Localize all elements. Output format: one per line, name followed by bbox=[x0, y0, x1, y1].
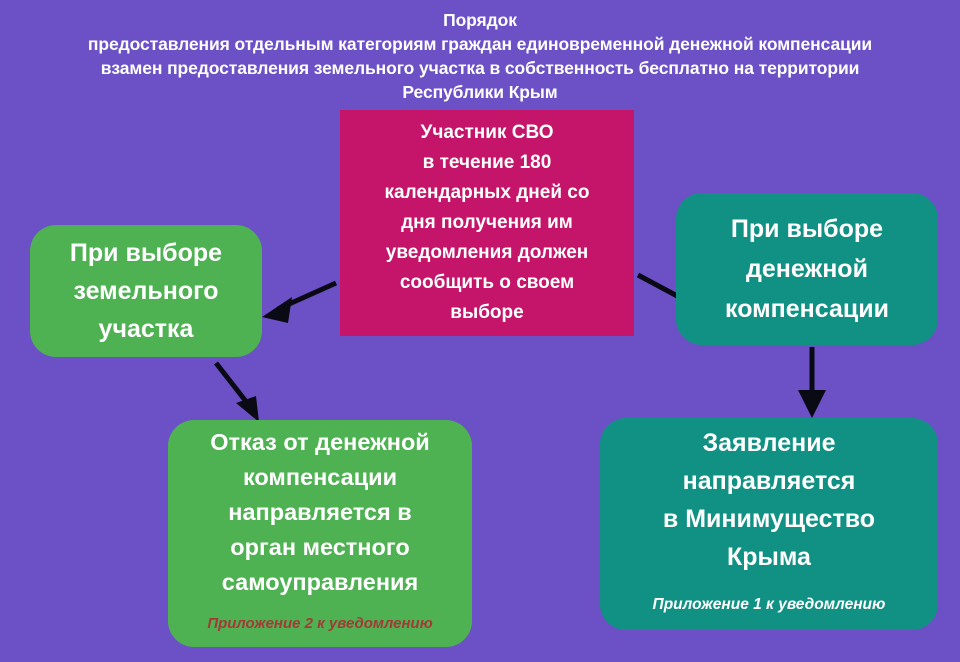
node-left-result-line-5: самоуправления bbox=[222, 565, 418, 600]
arrow-right-choice-to-right-result-icon bbox=[798, 347, 826, 418]
node-central-line-6: сообщить о своем bbox=[400, 268, 574, 298]
node-right-choice-line-2: денежной bbox=[746, 249, 868, 289]
arrow-central-to-left-choice-icon bbox=[262, 283, 336, 323]
node-right-choice-line-3: компенсации bbox=[725, 289, 889, 329]
node-refusal-to-local-government[interactable]: Отказ от денежной компенсации направляет… bbox=[168, 420, 472, 647]
node-left-result-line-3: направляется в bbox=[228, 495, 411, 530]
node-right-choice-line-1: При выборе bbox=[731, 209, 883, 249]
node-left-choice-line-1: При выборе bbox=[70, 234, 222, 272]
title-line-1: Порядок bbox=[0, 8, 960, 32]
title-line-4: Республики Крым bbox=[0, 80, 960, 104]
node-central-line-2: в течение 180 bbox=[423, 148, 552, 178]
node-right-result-annex-label: Приложение 1 к уведомлению bbox=[653, 586, 886, 624]
node-left-result-annex-label: Приложение 2 к уведомлению bbox=[207, 606, 432, 641]
node-right-result-line-1: Заявление bbox=[702, 424, 835, 462]
node-left-result-line-2: компенсации bbox=[243, 460, 397, 495]
node-central-line-5: уведомления должен bbox=[386, 238, 588, 268]
node-left-choice-line-2: земельного bbox=[73, 272, 218, 310]
node-application-to-minimushchestvo[interactable]: Заявление направляется в Минимущество Кр… bbox=[600, 418, 938, 630]
node-choice-monetary-compensation[interactable]: При выборе денежной компенсации bbox=[676, 193, 938, 345]
node-right-result-line-4: Крыма bbox=[727, 538, 811, 576]
node-left-result-line-4: орган местного bbox=[230, 530, 409, 565]
title-line-3: взамен предоставления земельного участка… bbox=[0, 56, 960, 80]
node-right-result-line-3: в Минимущество bbox=[663, 500, 875, 538]
node-central-line-1: Участник СВО bbox=[421, 118, 554, 148]
node-participant-svo[interactable]: Участник СВО в течение 180 календарных д… bbox=[340, 110, 634, 336]
node-central-line-3: календарных дней со bbox=[385, 178, 590, 208]
page-title: Порядок предоставления отдельным категор… bbox=[0, 8, 960, 104]
node-left-result-line-1: Отказ от денежной bbox=[210, 425, 430, 460]
title-line-2: предоставления отдельным категориям граж… bbox=[0, 32, 960, 56]
arrow-left-choice-to-left-result-icon bbox=[216, 363, 259, 422]
node-left-choice-line-3: участка bbox=[99, 310, 194, 348]
node-central-line-4: дня получения им bbox=[401, 208, 573, 238]
diagram-canvas: Порядок предоставления отдельным категор… bbox=[0, 0, 960, 662]
node-right-result-line-2: направляется bbox=[683, 462, 856, 500]
node-central-line-7: выборе bbox=[450, 298, 523, 328]
node-choice-land-plot[interactable]: При выборе земельного участка bbox=[30, 225, 262, 357]
